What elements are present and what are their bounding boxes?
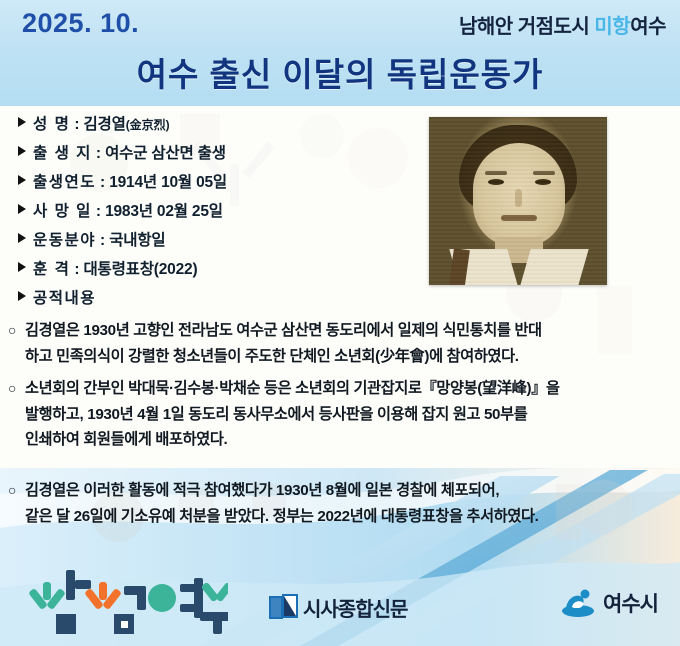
book-icon	[268, 593, 298, 621]
paragraph-line: 하고 민족의식이 강렬한 청소년들이 주도한 단체인 소년회(少年會)에 참여하…	[25, 348, 519, 365]
info-value: 1983년 02월 25일	[105, 199, 223, 221]
book-icon-graphic	[268, 593, 298, 621]
page-title: 여수 출신 이달의 독립운동가	[0, 48, 680, 96]
info-separator: :	[74, 261, 79, 279]
info-row-field: 운동분야 : 국내항일	[18, 228, 418, 257]
paragraph-text: 김경열은 이러한 활동에 적극 참여했다가 1930년 8월에 일본 경찰에 체…	[25, 478, 672, 529]
paragraph-text: 김경열은 1930년 고향인 전라남도 여수군 삼산면 동도리에서 일제의 식민…	[25, 318, 672, 369]
triangle-bullet-icon	[18, 175, 26, 185]
info-separator: :	[100, 174, 105, 192]
poster-root: 2025. 10. 남해안 거점도시 미항여수 여수 출신 이달의 독립운동가 …	[0, 0, 680, 646]
circle-bullet-icon: ○	[8, 318, 25, 369]
paragraph-line: 김경열은 1930년 고향인 전라남도 여수군 삼산면 동도리에서 일제의 식민…	[25, 322, 542, 339]
footer-logos: 시사종합신문 여수시	[0, 560, 680, 646]
sisa-news-logo-text: 시사종합신문	[303, 593, 407, 622]
paragraph-highlighted: ○ 김경열은 이러한 활동에 적극 참여했다가 1930년 8월에 일본 경찰에…	[8, 478, 672, 529]
seomseom-yeosu-logo	[28, 564, 228, 636]
info-separator: :	[74, 116, 79, 134]
paragraph-line: 같은 달 26일에 기소유예 처분을 받았다. 정부는 2022년에 대통령표창…	[25, 508, 538, 525]
paragraph-text: 소년회의 간부인 박대묵·김수봉·박채순 등은 소년회의 기관잡지로『망양봉(望…	[25, 376, 672, 453]
slogan-part-3: 여수	[630, 16, 666, 38]
triangle-bullet-icon	[18, 262, 26, 272]
slogan-part-2: 미항	[594, 16, 630, 38]
poster-header: 2025. 10. 남해안 거점도시 미항여수 여수 출신 이달의 독립운동가	[0, 0, 680, 106]
city-slogan: 남해안 거점도시 미항여수	[459, 10, 666, 39]
info-value: 대통령표창(2022)	[84, 257, 198, 279]
info-label: 출생연도	[33, 170, 96, 192]
info-value: 국내항일	[109, 228, 165, 250]
profile-info-list: 성 명 : 김경열 (金京烈) 출 생 지 : 여수군 삼산면 출생 출생연도 …	[18, 112, 418, 315]
paragraph-line: 김경열은 이러한 활동에 적극 참여했다가 1930년 8월에 일본 경찰에 체…	[25, 482, 499, 499]
info-label: 공적내용	[33, 286, 96, 308]
info-row-birthplace: 출 생 지 : 여수군 삼산면 출생	[18, 141, 418, 170]
triangle-bullet-icon	[18, 117, 26, 127]
info-row-name: 성 명 : 김경열 (金京烈)	[18, 112, 418, 141]
info-value: 1914년 10월 05일	[109, 170, 227, 192]
triangle-bullet-icon	[18, 233, 26, 243]
info-row-birthdate: 출생연도 : 1914년 10월 05일	[18, 170, 418, 199]
triangle-bullet-icon	[18, 204, 26, 214]
info-value: 여수군 삼산면 출생	[105, 141, 226, 163]
info-separator: :	[96, 203, 101, 221]
triangle-bullet-icon	[18, 146, 26, 156]
info-label: 출 생 지	[33, 141, 92, 163]
paragraph-3: ○ 김경열은 이러한 활동에 적극 참여했다가 1930년 8월에 일본 경찰에…	[8, 478, 672, 529]
achievement-paragraphs: ○ 김경열은 1930년 고향인 전라남도 여수군 삼산면 동도리에서 일제의 …	[8, 318, 672, 460]
circle-bullet-icon: ○	[8, 478, 25, 529]
info-separator: :	[100, 232, 105, 250]
info-label: 사 망 일	[33, 199, 92, 221]
paragraph-1: ○ 김경열은 1930년 고향인 전라남도 여수군 삼산면 동도리에서 일제의 …	[8, 318, 672, 369]
slogan-part-1: 남해안 거점도시	[459, 16, 594, 38]
yeosu-city-logo: 여수시	[560, 588, 658, 618]
info-hanja: (金京烈)	[126, 116, 170, 133]
portrait-photo	[429, 117, 607, 285]
photo-grain-overlay	[429, 117, 607, 285]
yeosu-city-mark-graphic	[560, 588, 596, 618]
paragraph-line: 인쇄하여 회원들에게 배포하였다.	[25, 431, 227, 448]
info-separator: :	[96, 145, 101, 163]
seomseom-yeosu-logo-graphic	[28, 564, 228, 636]
paragraph-line: 소년회의 간부인 박대묵·김수봉·박채순 등은 소년회의 기관잡지로『망양봉(望…	[25, 380, 560, 397]
info-label: 훈 격	[33, 257, 70, 279]
paragraph-line: 발행하고, 1930년 4월 1일 동도리 동사무소에서 등사판을 이용해 잡지…	[25, 406, 527, 423]
info-row-award: 훈 격 : 대통령표창(2022)	[18, 257, 418, 286]
yeosu-city-logo-text: 여수시	[603, 588, 658, 618]
info-row-achievements-header: 공적내용	[18, 286, 418, 315]
info-row-deathdate: 사 망 일 : 1983년 02월 25일	[18, 199, 418, 228]
circle-bullet-icon: ○	[8, 376, 25, 453]
paragraph-2: ○ 소년회의 간부인 박대묵·김수봉·박채순 등은 소년회의 기관잡지로『망양봉…	[8, 376, 672, 453]
info-value: 김경열	[84, 112, 126, 134]
sisa-news-logo: 시사종합신문	[268, 590, 407, 624]
info-label: 운동분야	[33, 228, 96, 250]
info-label: 성 명	[33, 112, 70, 134]
triangle-bullet-icon	[18, 291, 26, 301]
header-date: 2025. 10.	[22, 8, 139, 39]
yeosu-city-mark-icon	[560, 588, 596, 618]
